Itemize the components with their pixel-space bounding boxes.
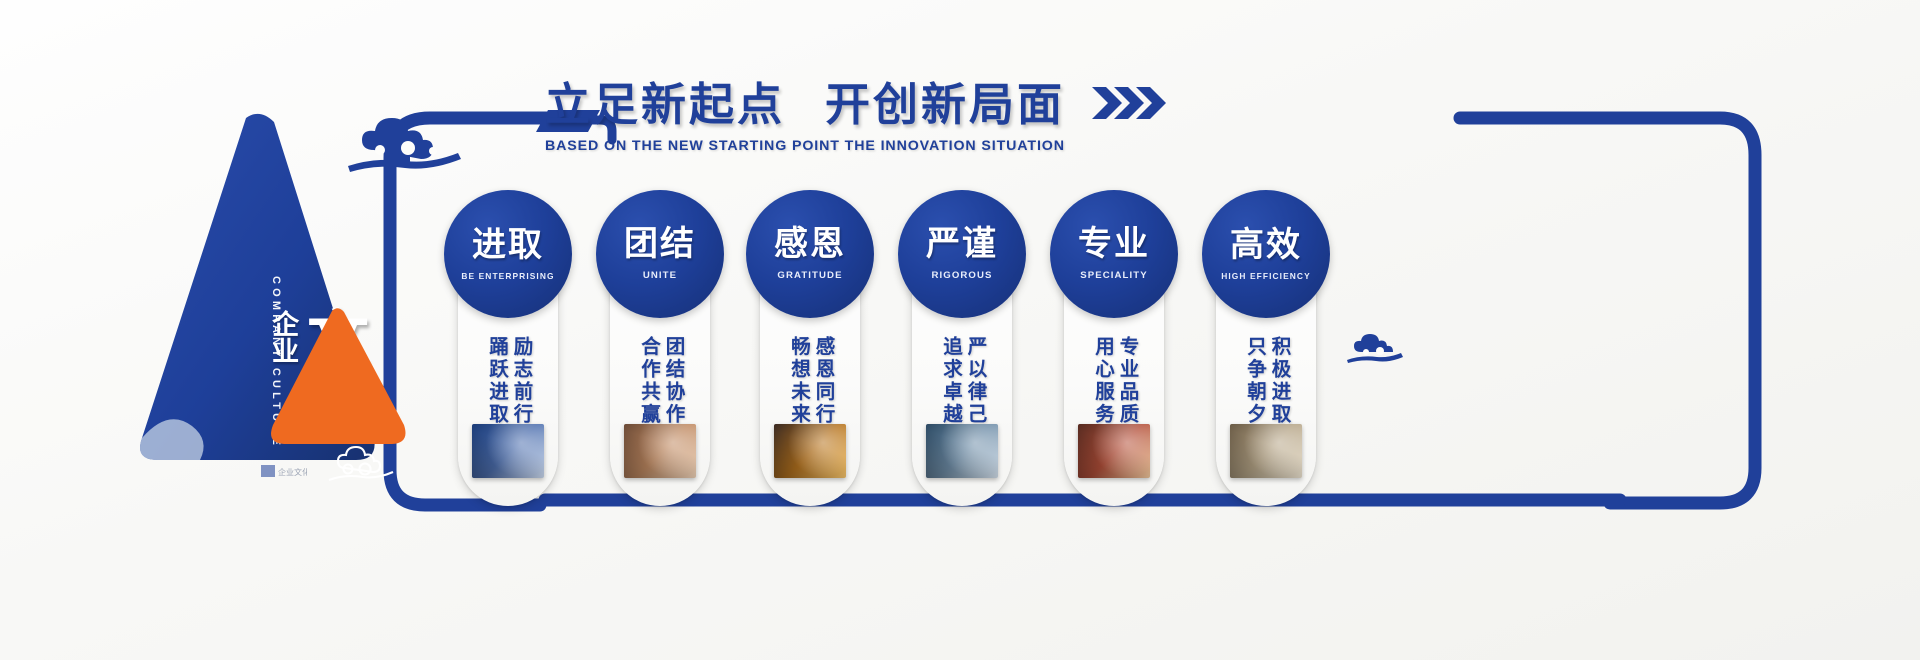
pillar-slogan: 励志前行踊跃进取 bbox=[486, 336, 530, 426]
pillar-slogan: 积极进取只争朝夕 bbox=[1244, 336, 1288, 426]
title-part-1: 立足新起点 bbox=[545, 68, 785, 133]
pillar-strip-2[interactable]: 团结UNITE团结协作合作共赢 bbox=[610, 196, 710, 506]
pillar-badge-4[interactable]: 严谨RIGOROUS bbox=[898, 190, 1026, 318]
double-chevron-right-icon bbox=[1092, 85, 1182, 121]
pillar-title-cn: 团结 bbox=[624, 227, 696, 261]
photo-handshake bbox=[624, 424, 696, 478]
photo-sunset-figure bbox=[774, 424, 846, 478]
pillar-title-en: HIGH EFFICIENCY bbox=[1221, 271, 1311, 281]
pillar-slogan-right: 感恩同行 bbox=[813, 336, 833, 426]
pillar-slogan-right: 严以律己 bbox=[965, 336, 985, 426]
pillar-badge-3[interactable]: 感恩GRATITUDE bbox=[746, 190, 874, 318]
pillar-strip-6[interactable]: 高效HIGH EFFICIENCY积极进取只争朝夕 bbox=[1216, 196, 1316, 506]
page-title: 立足新起点 开创新局面 bbox=[545, 68, 1105, 133]
pillar-slogan-right: 专业品质 bbox=[1117, 336, 1137, 426]
pillar-title-cn: 感恩 bbox=[774, 227, 846, 261]
photo-stopwatch bbox=[1230, 424, 1302, 478]
page-subtitle: BASED ON THE NEW STARTING POINT THE INNO… bbox=[545, 138, 1105, 154]
pillar-badge-6[interactable]: 高效HIGH EFFICIENCY bbox=[1202, 190, 1330, 318]
photo-runner-track bbox=[1078, 424, 1150, 478]
pillar-title-en: SPECIALITY bbox=[1080, 270, 1148, 281]
pillar-slogan: 专业品质用心服务 bbox=[1092, 336, 1136, 426]
pillar-badge-2[interactable]: 团结UNITE bbox=[596, 190, 724, 318]
pillar-slogan-left: 踊跃进取 bbox=[486, 336, 506, 426]
svg-text:企业文化: 企业文化 bbox=[278, 467, 307, 477]
pillar-slogan-left: 用心服务 bbox=[1092, 336, 1112, 426]
pillar-title-cn: 高效 bbox=[1230, 228, 1302, 262]
pillar-title-en: UNITE bbox=[643, 270, 677, 281]
orange-triangle bbox=[268, 305, 408, 450]
pillar-slogan-left: 只争朝夕 bbox=[1244, 336, 1264, 426]
pillar-title-en: GRATITUDE bbox=[777, 270, 842, 281]
pillar-title-cn: 严谨 bbox=[926, 227, 998, 261]
pillar-badge-5[interactable]: 专业SPECIALITY bbox=[1050, 190, 1178, 318]
chinese-cloud-icon bbox=[340, 110, 470, 172]
pillar-title-en: BE ENTERPRISING bbox=[461, 271, 554, 281]
pillar-slogan: 团结协作合作共赢 bbox=[638, 336, 682, 426]
pillar-slogan-left: 合作共赢 bbox=[638, 336, 658, 426]
pillar-slogan-right: 积极进取 bbox=[1269, 336, 1289, 426]
pillar-badge-1[interactable]: 进取BE ENTERPRISING bbox=[444, 190, 572, 318]
chinese-cloud-icon bbox=[1345, 330, 1403, 364]
pillar-slogan-left: 畅想未来 bbox=[788, 336, 808, 426]
pillar-slogan: 感恩同行畅想未来 bbox=[788, 336, 832, 426]
photo-eagle bbox=[926, 424, 998, 478]
pillar-strip-4[interactable]: 严谨RIGOROUS严以律己追求卓越 bbox=[912, 196, 1012, 506]
pillar-slogan: 严以律己追求卓越 bbox=[940, 336, 984, 426]
photo-climbing bbox=[472, 424, 544, 478]
pillar-slogan-left: 追求卓越 bbox=[940, 336, 960, 426]
pillar-title-cn: 专业 bbox=[1078, 227, 1150, 261]
pillar-slogan-right: 励志前行 bbox=[511, 336, 531, 426]
watermark-logo: 企业文化 bbox=[261, 463, 307, 479]
pillar-strip-1[interactable]: 进取BE ENTERPRISING励志前行踊跃进取 bbox=[458, 196, 558, 506]
headline-block: 立足新起点 开创新局面 BASED ON THE NEW STARTING PO… bbox=[545, 68, 1105, 154]
pillar-title-cn: 进取 bbox=[472, 228, 544, 262]
culture-wall-background: 文化 企业 COMPANY CULTURE 企业文化 bbox=[0, 0, 1920, 660]
pillar-strip-3[interactable]: 感恩GRATITUDE感恩同行畅想未来 bbox=[760, 196, 860, 506]
pillar-title-en: RIGOROUS bbox=[931, 270, 992, 281]
title-part-2: 开创新局面 bbox=[825, 68, 1065, 133]
pillar-slogan-right: 团结协作 bbox=[663, 336, 683, 426]
pillar-strip-5[interactable]: 专业SPECIALITY专业品质用心服务 bbox=[1064, 196, 1164, 506]
